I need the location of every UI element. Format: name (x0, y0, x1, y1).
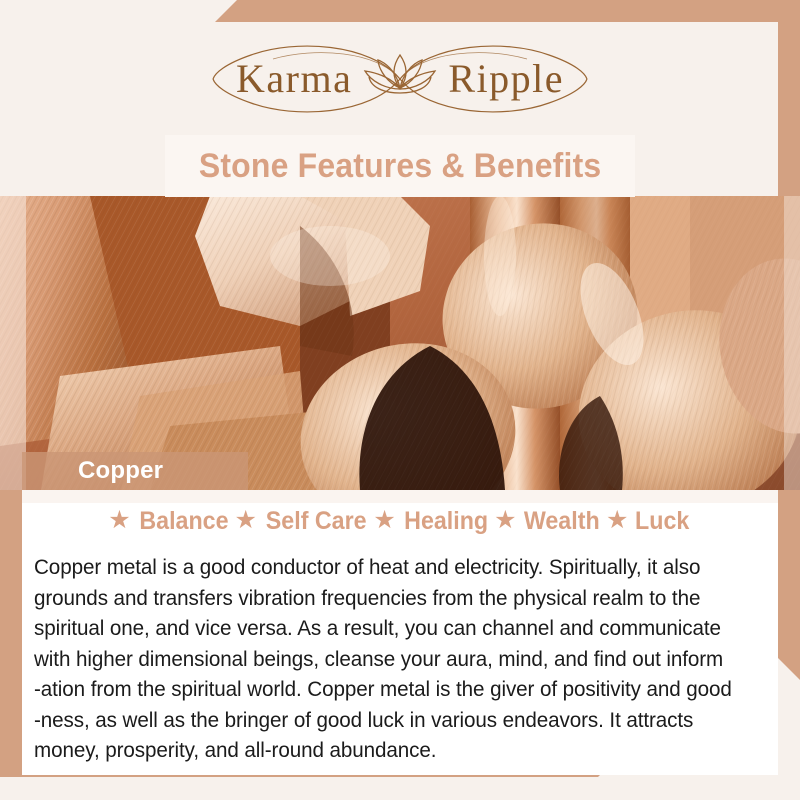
star-icon: ★ (606, 508, 628, 533)
frame-band-left (0, 489, 22, 777)
benefit-item: ★ Self Care (235, 507, 371, 536)
benefit-item: ★ Balance (108, 507, 231, 536)
star-icon: ★ (494, 508, 516, 533)
content-card: ★ Balance ★ Self Care ★ Healing ★ Wealth… (22, 490, 778, 775)
description-paragraph: Copper metal is a good conductor of heat… (34, 552, 772, 766)
infographic-page: Karma Ripple Stone Features & Benefits (0, 0, 800, 800)
benefit-label: Self Care (266, 507, 367, 536)
paragraph-line: grounds and transfers vibration frequenc… (34, 583, 742, 614)
benefits-row: ★ Balance ★ Self Care ★ Healing ★ Wealth… (22, 507, 778, 536)
benefit-label: Healing (404, 507, 488, 536)
benefit-item: ★ Healing (373, 507, 491, 536)
paragraph-line: with higher dimensional beings, cleanse … (34, 644, 742, 675)
photo-artwork (0, 196, 800, 490)
benefit-item: ★ Luck (606, 507, 692, 536)
copper-bars-photo (0, 196, 800, 490)
brand-word-right: Ripple (448, 59, 564, 99)
benefit-label: Luck (635, 507, 689, 536)
title-banner: Stone Features & Benefits (165, 135, 635, 197)
benefit-label: Balance (139, 507, 228, 536)
paragraph-line: -ation from the spiritual world. Copper … (34, 674, 742, 705)
stone-name-text: Copper (22, 457, 163, 485)
stone-name-label: Copper (22, 452, 248, 490)
paragraph-line: money, prosperity, and all-round abundan… (34, 735, 742, 766)
paragraph-line: spiritual one, and vice versa. As a resu… (34, 613, 742, 644)
paragraph-line: -ness, as well as the bringer of good lu… (34, 705, 742, 736)
frame-band-top (215, 0, 800, 22)
paragraph-line: Copper metal is a good conductor of heat… (34, 552, 742, 583)
star-icon: ★ (235, 508, 257, 533)
card-top-fade (22, 490, 778, 503)
photo-left-overlay (0, 196, 26, 490)
star-icon: ★ (373, 508, 395, 533)
photo-right-overlay (784, 196, 800, 490)
benefit-label: Wealth (524, 507, 600, 536)
brand-word-left: Karma (236, 59, 352, 99)
brand-logo: Karma Ripple (0, 26, 800, 131)
star-icon: ★ (108, 508, 130, 533)
benefit-item: ★ Wealth (494, 507, 603, 536)
page-title: Stone Features & Benefits (199, 147, 602, 186)
